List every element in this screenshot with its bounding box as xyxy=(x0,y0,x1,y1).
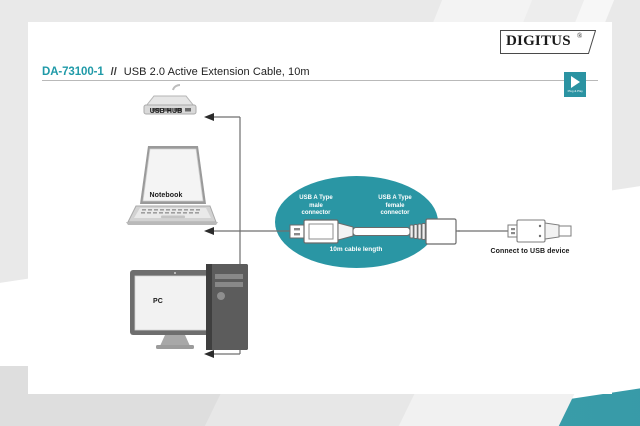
pc-label: PC xyxy=(128,298,188,305)
female-callout-line-1: USB A Type xyxy=(365,195,425,203)
female-callout-line-2: female xyxy=(365,203,425,211)
slide-canvas: DIGITUS ® DA-73100-1 // USB 2.0 Active E… xyxy=(0,0,640,426)
male-callout-line-3: connector xyxy=(286,210,346,218)
connection-diagram: USB A Type male connector USB A Type fem… xyxy=(28,84,612,394)
notebook-label: Notebook xyxy=(126,192,206,199)
title-divider xyxy=(42,80,598,81)
usb-hub-label: USB HUB xyxy=(126,108,206,115)
cable-length-callout: 10m cable length xyxy=(316,246,396,254)
female-callout-line-3: connector xyxy=(365,210,425,218)
title-separator: // xyxy=(111,66,117,78)
connect-to-usb-device-label: Connect to USB device xyxy=(470,248,590,255)
male-callout-line-2: male xyxy=(286,203,346,211)
content-card: DIGITUS ® DA-73100-1 // USB 2.0 Active E… xyxy=(28,22,612,394)
product-sku: DA-73100-1 xyxy=(42,66,104,78)
logo-wordmark: DIGITUS xyxy=(506,33,571,50)
logo-registered-mark: ® xyxy=(577,32,582,40)
female-connector-callout: USB A Type female connector xyxy=(365,195,425,218)
usb-a-male-connector-icon xyxy=(290,220,353,243)
male-callout-line-1: USB A Type xyxy=(286,195,346,203)
digitus-logo: DIGITUS ® xyxy=(500,30,596,54)
product-title: USB 2.0 Active Extension Cable, 10m xyxy=(124,66,310,78)
male-connector-callout: USB A Type male connector xyxy=(286,195,346,218)
extension-cable-illustration xyxy=(28,84,612,394)
product-title-row: DA-73100-1 // USB 2.0 Active Extension C… xyxy=(42,58,598,78)
usb-a-female-connector-icon xyxy=(410,219,456,244)
